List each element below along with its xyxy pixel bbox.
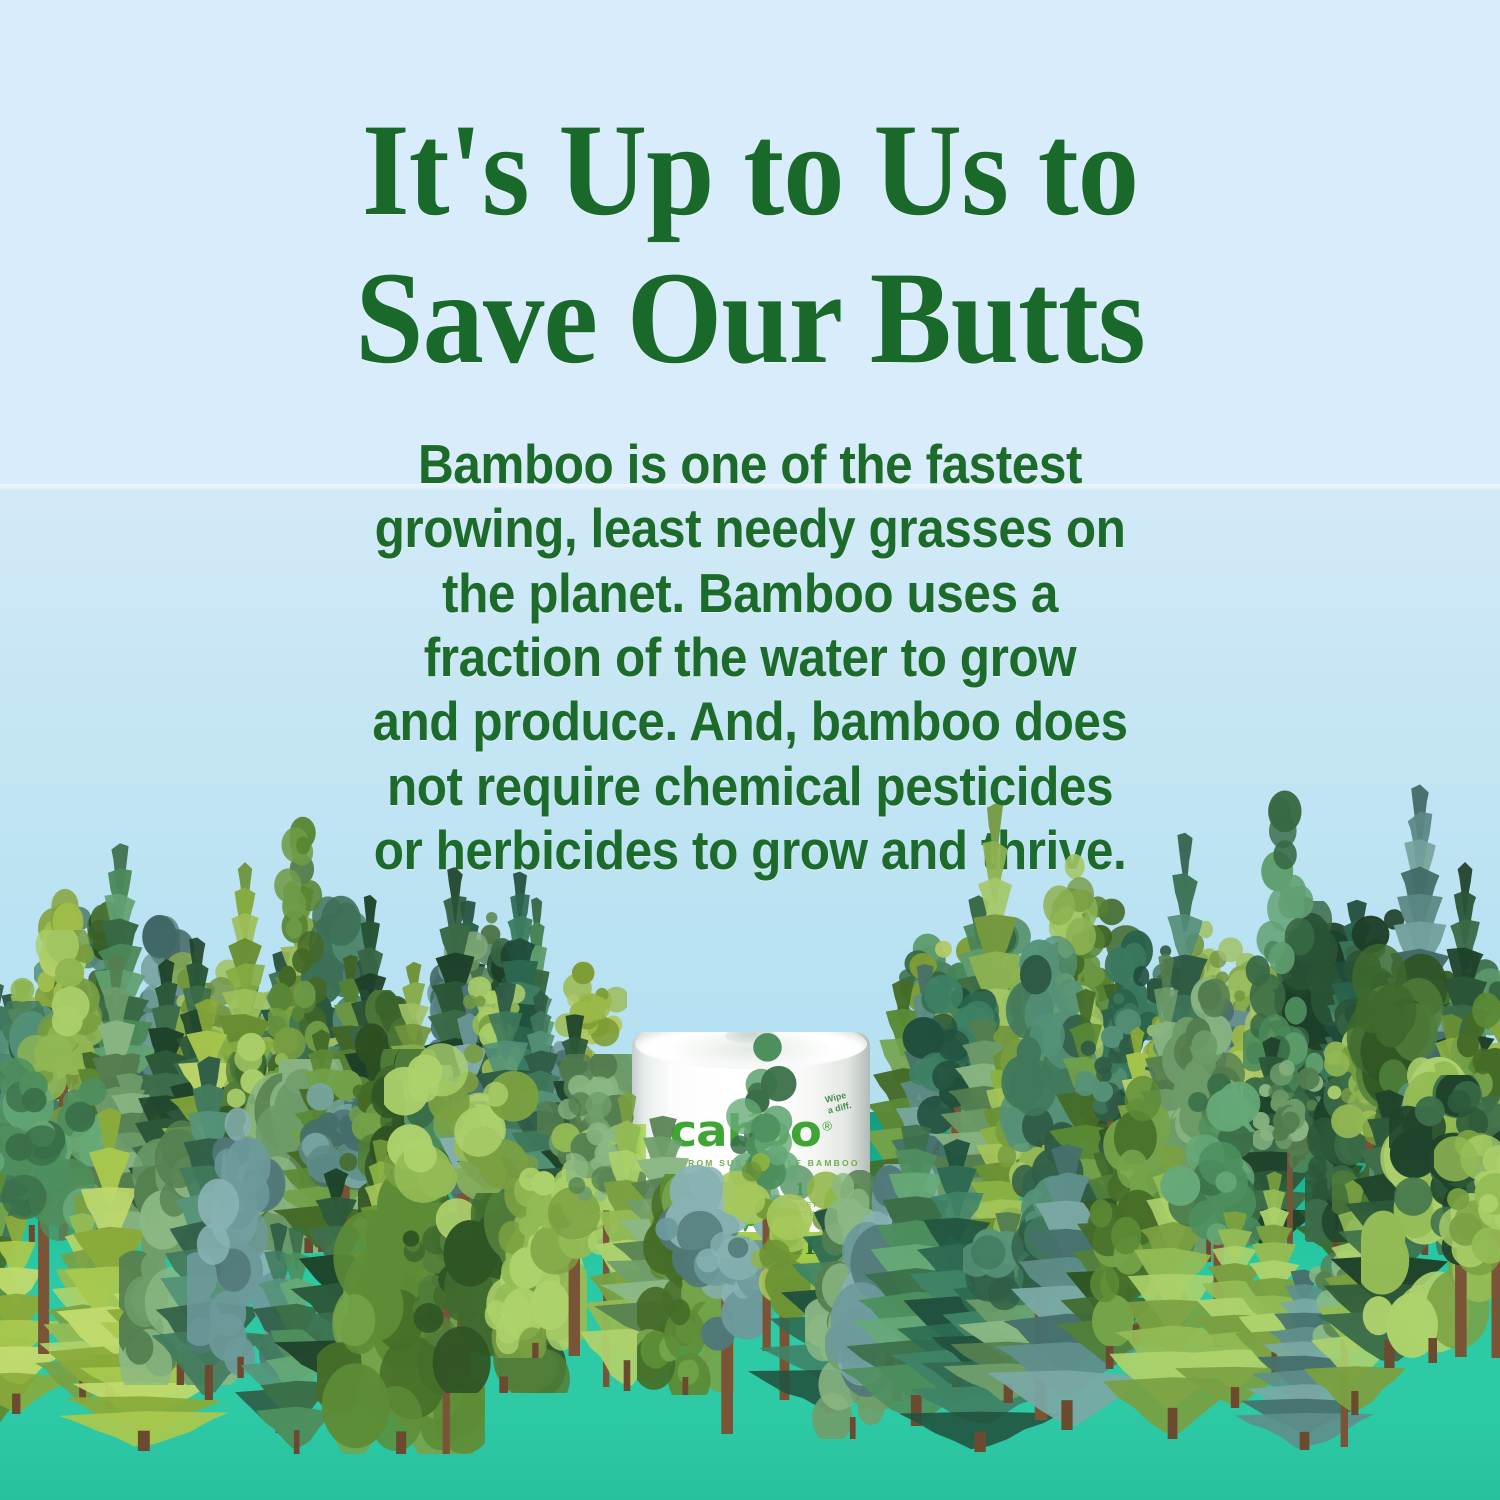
advertisement-image: It's Up to Us to Save Our Butts Bamboo i… (0, 0, 1500, 1500)
registered-mark: ® (821, 1119, 833, 1133)
forest-front-row (0, 0, 1500, 1500)
model-tree (1434, 1105, 1500, 1358)
